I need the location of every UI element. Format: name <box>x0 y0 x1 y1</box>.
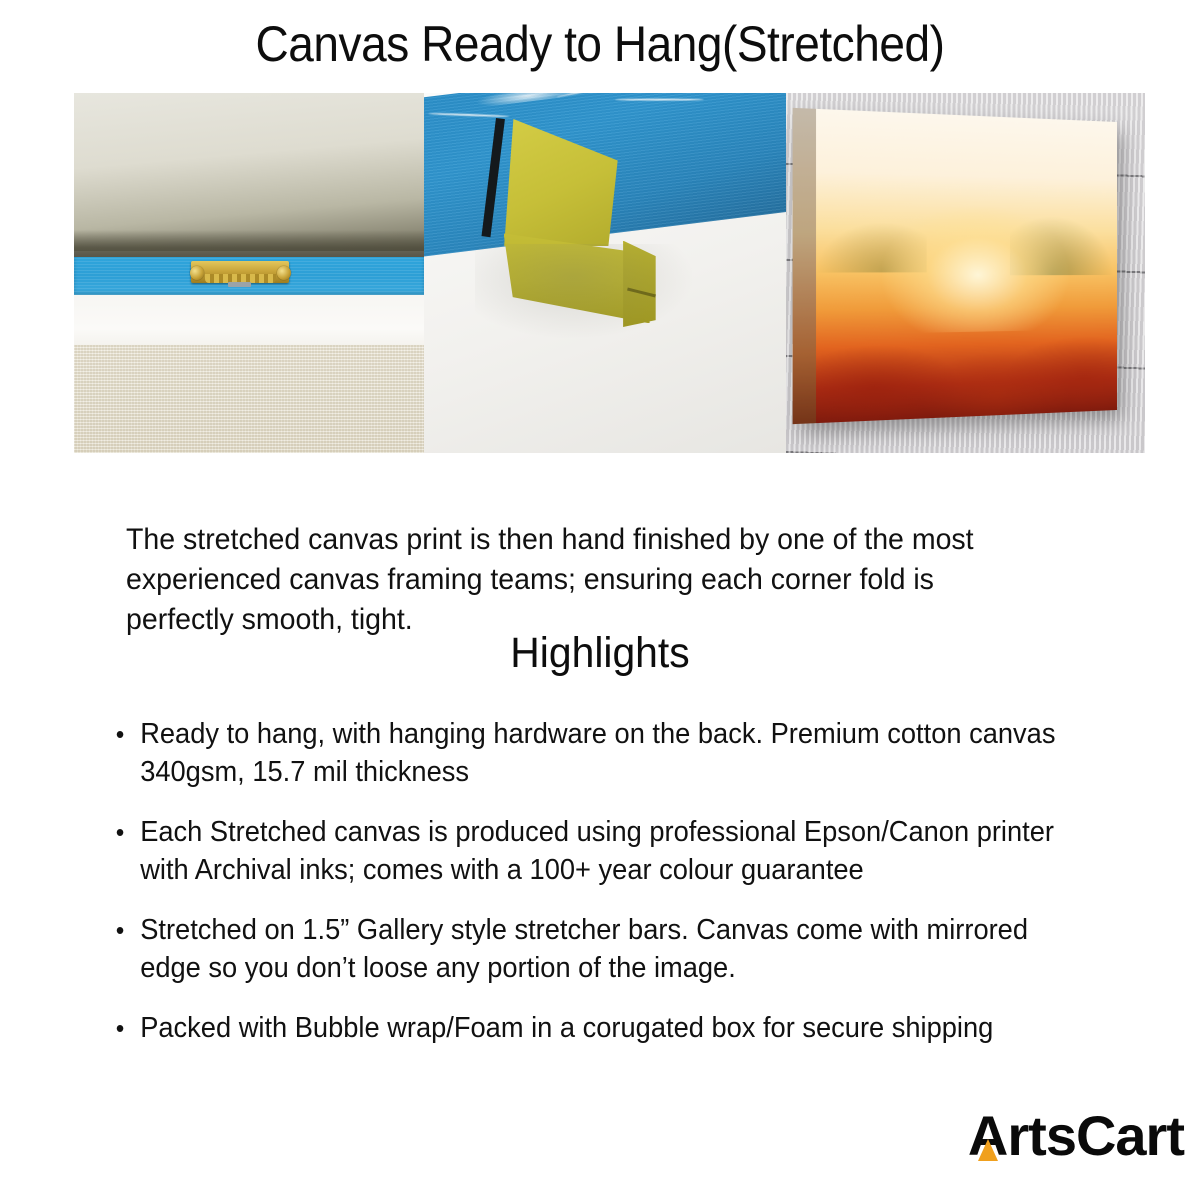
hanging-hardware-icon <box>191 261 289 283</box>
bullet-dot-icon: • <box>116 1009 125 1047</box>
photo-a-wire <box>228 282 251 286</box>
brand-logo-letter-a: A <box>968 1103 1007 1168</box>
screw-icon-right <box>277 266 291 280</box>
bullet-dot-icon: • <box>116 813 125 851</box>
photo-a-canvas-texture <box>74 345 424 453</box>
photo-b-wisp-3 <box>615 99 704 101</box>
photo-c-canvas-side-edge <box>792 108 817 424</box>
photo-b-wisp-1 <box>429 113 510 118</box>
page-title: Canvas Ready to Hang(Stretched) <box>48 14 1152 74</box>
photo-c-canvas-frame <box>792 108 1116 424</box>
intro-paragraph: The stretched canvas print is then hand … <box>126 520 1029 640</box>
list-item-label: Stretched on 1.5” Gallery style stretche… <box>140 914 1028 984</box>
bullet-dot-icon: • <box>116 911 125 949</box>
list-item-label: Ready to hang, with hanging hardware on … <box>140 718 1055 788</box>
list-item: • Each Stretched canvas is produced usin… <box>112 813 1061 889</box>
brand-logo: A rtsCart <box>968 1104 1184 1166</box>
highlights-list: • Ready to hang, with hanging hardware o… <box>112 715 1122 1069</box>
triangle-icon <box>978 1139 998 1161</box>
screw-icon-left <box>190 266 204 280</box>
list-item: • Packed with Bubble wrap/Foam in a coru… <box>112 1009 1061 1047</box>
brand-logo-text: rtsCart <box>1007 1103 1184 1168</box>
list-item: • Stretched on 1.5” Gallery style stretc… <box>112 911 1061 987</box>
gallery-image-canvas-back-hardware <box>74 93 424 453</box>
list-item-label: Packed with Bubble wrap/Foam in a coruga… <box>140 1012 993 1044</box>
gallery-image-canvas-corner-fold <box>424 93 786 453</box>
list-item: • Ready to hang, with hanging hardware o… <box>112 715 1061 791</box>
photo-b-cloud <box>475 93 581 109</box>
bullet-dot-icon: • <box>116 715 125 753</box>
gallery-image-canvas-on-wall <box>786 93 1145 453</box>
photo-c-foreground <box>815 312 1116 423</box>
product-image-gallery <box>74 93 1145 453</box>
photo-b-wisp-2 <box>557 93 661 98</box>
photo-b-shadow <box>475 244 692 338</box>
photo-a-wall <box>74 93 424 251</box>
highlights-heading: Highlights <box>30 627 1170 679</box>
list-item-label: Each Stretched canvas is produced using … <box>140 816 1054 886</box>
